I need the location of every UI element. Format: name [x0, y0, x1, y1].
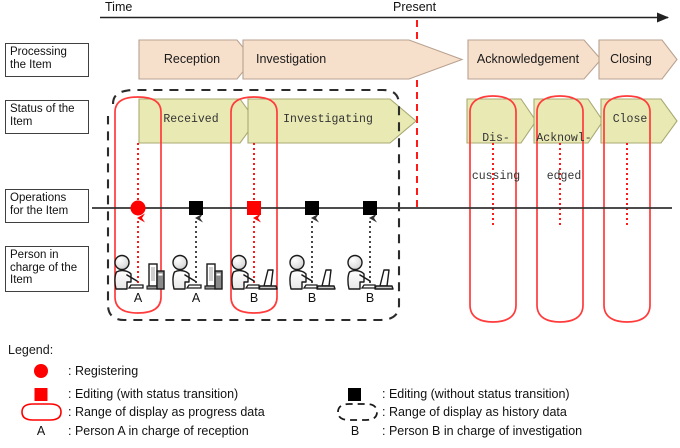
legend-letter-b-icon: B — [347, 424, 363, 438]
legend-capsule-dashed-icon — [338, 404, 377, 420]
status-state-chevrons — [139, 99, 677, 143]
status-chevron-received[interactable] — [139, 99, 256, 143]
phase-chevron-investigation[interactable] — [243, 40, 462, 79]
phase-chevron-reception[interactable] — [139, 40, 253, 79]
phase-chevron-closing[interactable] — [599, 40, 677, 79]
diagram-canvas: Processing the Item Status of the Item O… — [0, 0, 680, 448]
legend-item-progress-range: : Range of display as progress data — [68, 405, 265, 419]
operation-marker-edit-1[interactable] — [189, 201, 203, 215]
person-figure-a-1 — [115, 256, 164, 290]
legend-item-editing-with-transition: : Editing (with status transition) — [68, 387, 238, 401]
status-chevron-close[interactable] — [601, 99, 677, 143]
present-axis-label: Present — [393, 0, 436, 14]
legend-title: Legend: — [8, 343, 53, 357]
phase-chevron-acknowledgement[interactable] — [468, 40, 601, 79]
legend-square-red-icon — [35, 388, 48, 401]
operation-to-person-arrows — [138, 218, 370, 283]
legend-item-person-b: : Person B in charge of investigation — [382, 424, 582, 438]
person-letter-5: B — [358, 291, 382, 305]
status-chevron-acknowledged[interactable] — [534, 99, 603, 143]
operation-marker-edit-3[interactable] — [363, 201, 377, 215]
operation-marker-edit-2[interactable] — [305, 201, 319, 215]
legend-item-person-a: : Person A in charge of reception — [68, 424, 249, 438]
operation-marker-edit-status-transition[interactable] — [247, 201, 261, 215]
person-letter-1: A — [126, 291, 150, 305]
legend-letter-a-icon: A — [33, 424, 49, 438]
person-letter-2: A — [184, 291, 208, 305]
processing-phase-chevrons — [139, 40, 677, 79]
time-axis-label: Time — [105, 0, 132, 14]
diagram-graphics — [0, 0, 680, 448]
legend-item-editing-without-transition: : Editing (without status transition) — [382, 387, 570, 401]
person-figure-a-2 — [173, 256, 222, 290]
legend-circle-red-icon — [34, 364, 48, 378]
status-chevron-discussing[interactable] — [467, 99, 536, 143]
legend-item-history-range: : Range of display as history data — [382, 405, 567, 419]
legend-square-black-icon — [348, 388, 361, 401]
legend-capsule-red-icon — [22, 404, 61, 420]
status-chevron-investigating[interactable] — [248, 99, 416, 143]
person-letter-3: B — [242, 291, 266, 305]
legend-item-registering: : Registering — [68, 364, 138, 378]
person-letter-4: B — [300, 291, 324, 305]
status-to-operation-connectors — [138, 143, 254, 204]
operation-marker-registering[interactable] — [131, 201, 146, 216]
future-capsule-center-lines — [493, 143, 627, 228]
